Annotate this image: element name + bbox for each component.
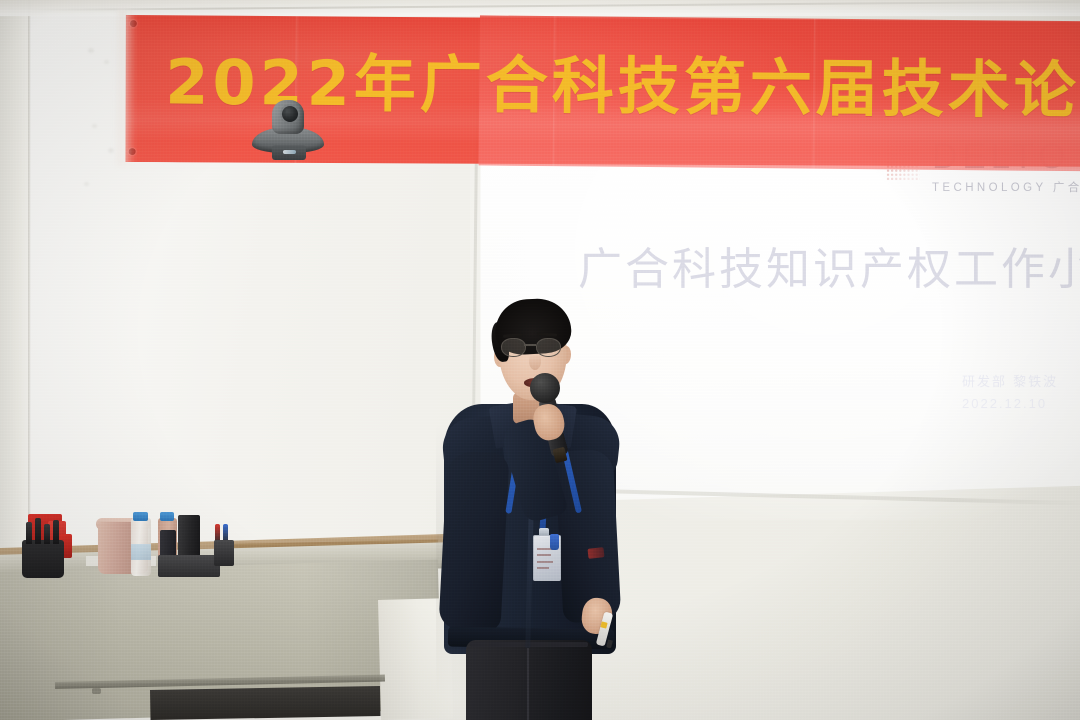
presenter-nose <box>529 353 541 370</box>
eyeglass-bridge <box>524 344 536 346</box>
presenter-right-arm <box>555 449 622 624</box>
badge-text-line <box>537 567 549 569</box>
eyeglass-lens-left <box>501 338 526 357</box>
presenter <box>0 0 1080 720</box>
presenter-left-arm <box>438 450 509 631</box>
photo-scene: DELTO TECHNOLOGY 广合 广合科技知识产权工作小结 研发部 黎铁波… <box>0 0 1080 720</box>
badge-blue-tag <box>550 534 559 550</box>
badge-text-line <box>537 554 551 556</box>
jacket-chest-logo <box>588 547 605 559</box>
presenter-trousers <box>466 640 592 720</box>
eyeglass-lens-right <box>536 338 561 357</box>
trouser-seam <box>527 648 529 720</box>
badge-text-line <box>537 561 553 563</box>
microphone-head-icon <box>530 373 560 403</box>
